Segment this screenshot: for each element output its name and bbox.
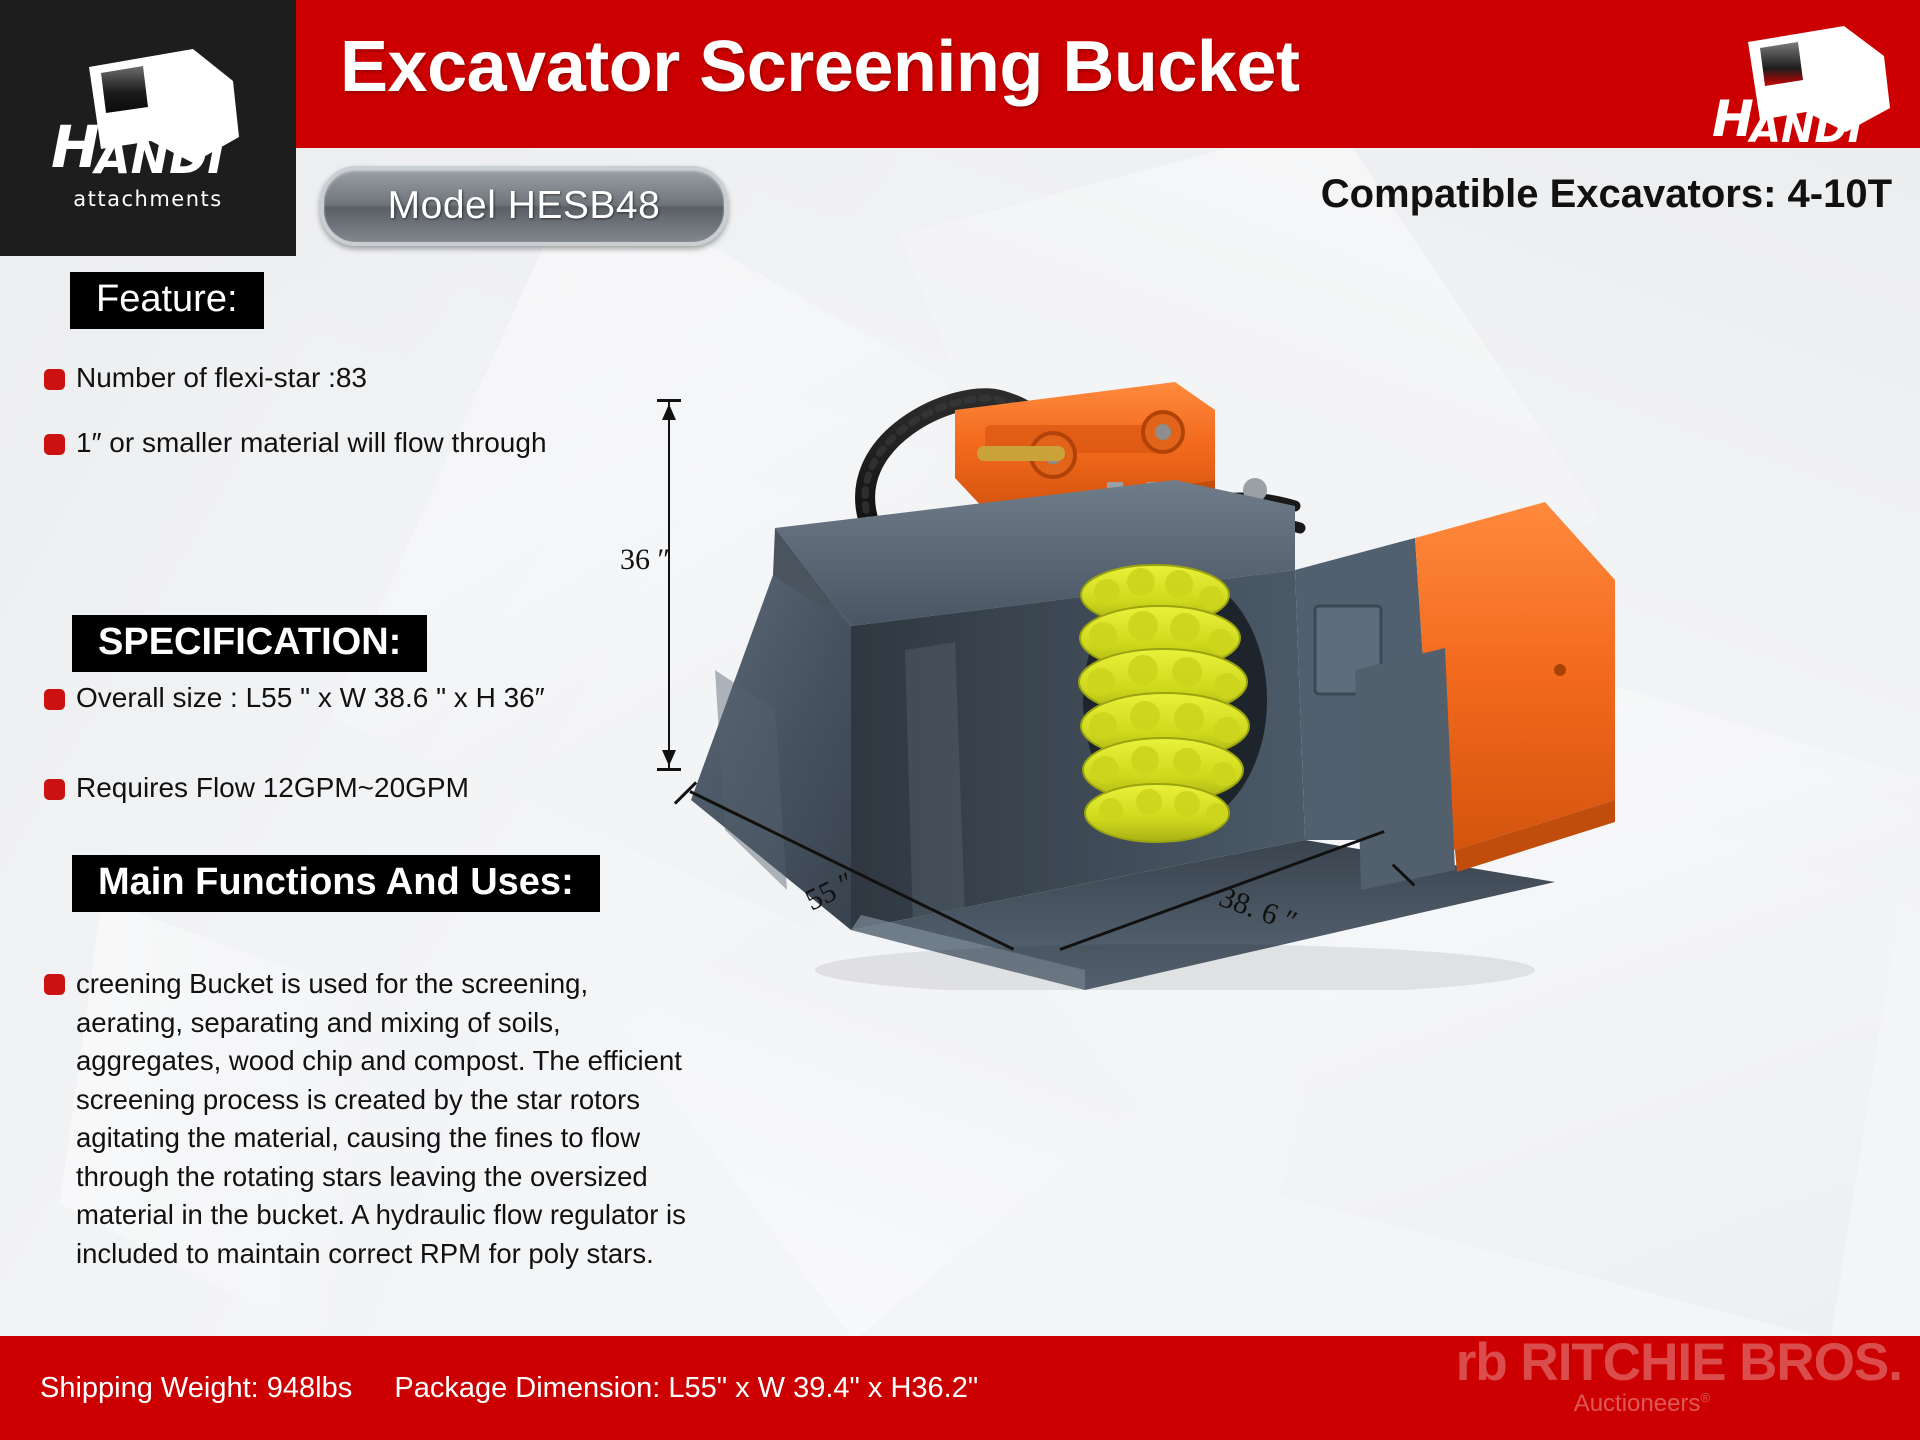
svg-text:ANDI: ANDI [92, 130, 224, 184]
page-title: Excavator Screening Bucket [340, 26, 1299, 108]
feature-heading: Feature: [70, 272, 264, 329]
svg-text:ANDI: ANDI [1747, 106, 1863, 152]
spec-item-1-text: Overall size : L55 " x W 38.6 " x H 36″ [76, 680, 545, 716]
compatible-excavators-label: Compatible Excavators: 4-10T [1321, 172, 1892, 217]
feature-item-1-text: Number of flexi-star :83 [76, 360, 367, 396]
bullet-dot-icon [44, 369, 65, 390]
spec-item-2: Requires Flow 12GPM~20GPM [44, 770, 469, 806]
height-arrow-up-icon [662, 404, 676, 420]
height-dimension-line [668, 400, 670, 770]
main-functions-body-row: creening Bucket is used for the screenin… [44, 965, 694, 1273]
model-label: Model HESB48 [388, 184, 661, 228]
brand-tagline: attachments [73, 187, 222, 211]
brand-logo-box: H ANDI attachments [0, 0, 296, 256]
main-functions-heading: Main Functions And Uses: [72, 855, 600, 912]
main-functions-heading-wrap: Main Functions And Uses: [72, 855, 600, 912]
handi-logo-icon-secondary: H ANDI [1708, 24, 1898, 152]
feature-item-2: 1″ or smaller material will flow through [44, 425, 547, 461]
feature-heading-wrap: Feature: [70, 272, 264, 329]
shipping-weight-label: Shipping Weight: 948lbs [40, 1372, 352, 1404]
height-dimension-cap-top [657, 399, 681, 402]
feature-item-2-text: 1″ or smaller material will flow through [76, 425, 547, 461]
bullet-dot-icon [44, 689, 65, 710]
footer-text-wrap: Shipping Weight: 948lbs Package Dimensio… [40, 1372, 978, 1405]
height-dimension-cap-bottom [657, 768, 681, 771]
specification-heading: SPECIFICATION: [72, 615, 427, 672]
bullet-dot-icon [44, 779, 65, 800]
footer-bar: Shipping Weight: 948lbs Package Dimensio… [0, 1336, 1920, 1440]
main-functions-body-text: creening Bucket is used for the screenin… [76, 965, 694, 1273]
bullet-dot-icon [44, 434, 65, 455]
bullet-dot-icon [44, 974, 65, 995]
spec-item-1: Overall size : L55 " x W 38.6 " x H 36″ [44, 680, 545, 716]
model-badge: Model HESB48 [320, 166, 728, 246]
spec-item-2-text: Requires Flow 12GPM~20GPM [76, 770, 469, 806]
spec-sheet: H ANDI attachments Excavator Screening B… [0, 0, 1920, 1440]
height-dimension-label: 36 ″ [620, 543, 670, 577]
height-arrow-down-icon [662, 750, 676, 766]
package-dimension-label: Package Dimension: L55" x W 39.4" x H36.… [394, 1372, 978, 1404]
specification-heading-wrap: SPECIFICATION: [72, 615, 427, 672]
feature-item-1: Number of flexi-star :83 [44, 360, 367, 396]
svg-text:H: H [1712, 90, 1754, 148]
handi-logo-icon: H ANDI [43, 45, 253, 185]
